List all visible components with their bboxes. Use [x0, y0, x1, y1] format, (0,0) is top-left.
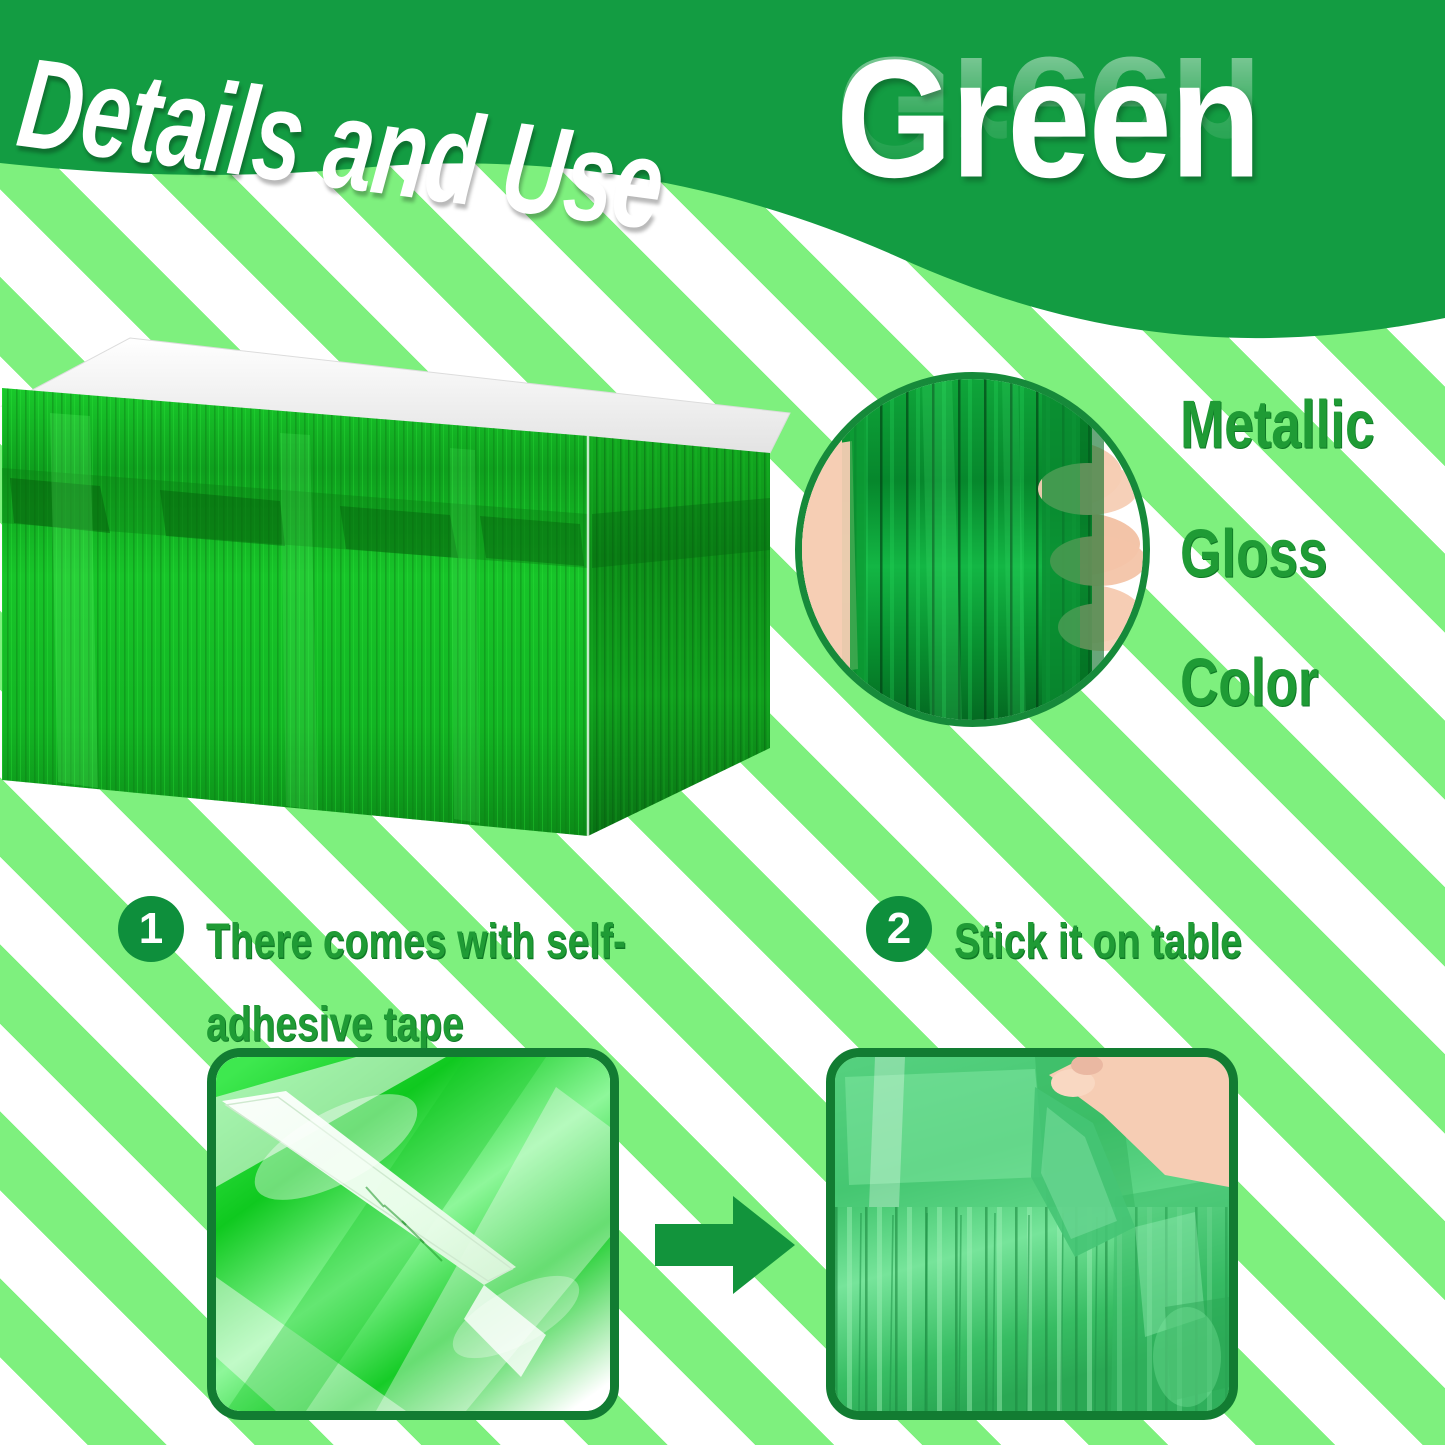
- header-banner: Green Green Details and Use: [0, 0, 1445, 360]
- feature-color: Color: [1180, 650, 1417, 717]
- step-1-photo: [207, 1048, 619, 1420]
- hand-holding-fringe-photo: [802, 379, 1143, 720]
- step-2-text: Stick it on table: [954, 900, 1242, 983]
- step-2-badge: 2: [866, 896, 932, 962]
- right-arrow-icon: [655, 1190, 800, 1300]
- feature-gloss: Gloss: [1180, 521, 1417, 588]
- step-1-badge: 1: [118, 896, 184, 962]
- header-highlight-word: Green: [836, 22, 1260, 216]
- step-2-line1: Stick it on table: [954, 900, 1242, 983]
- hero-product-photo: [0, 318, 810, 843]
- table-with-fringe-skirt: [0, 318, 810, 843]
- step-2: 2 Stick it on table: [866, 896, 1386, 969]
- step-2-header: 2 Stick it on table: [866, 896, 1386, 969]
- feature-list: Metallic Gloss Color: [1180, 392, 1435, 779]
- infographic-page: Green Green Details and Use: [0, 0, 1445, 1445]
- step-2-photo: [826, 1048, 1238, 1420]
- step-1-line1: There comes with self-adhesive tape: [206, 900, 787, 1065]
- feature-metallic: Metallic: [1180, 392, 1417, 459]
- arrow-between-steps: [655, 1190, 800, 1300]
- detail-photo-circle: [795, 372, 1150, 727]
- adhesive-tape-closeup-photo: [216, 1057, 610, 1411]
- sticking-skirt-on-table-photo: [835, 1057, 1229, 1411]
